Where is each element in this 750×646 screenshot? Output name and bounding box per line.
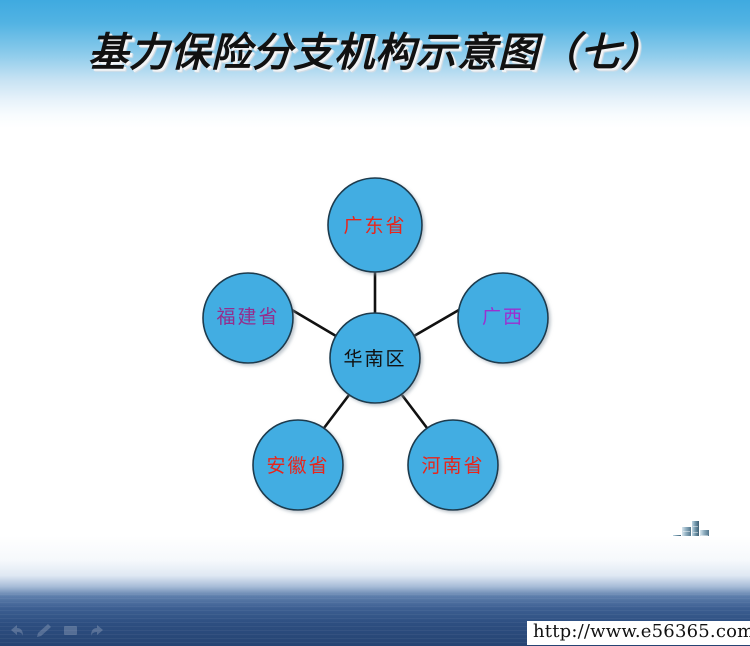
branch-guangdong[interactable]: 广东省 xyxy=(328,178,422,272)
branch-anhui[interactable]: 安徽省 xyxy=(253,420,343,510)
arrow-right-icon[interactable] xyxy=(89,623,106,638)
connector-center-to-fujian xyxy=(287,307,336,336)
slideshow-nav-controls[interactable] xyxy=(8,623,106,638)
watermark-url: http://www.e56365.com xyxy=(527,621,750,645)
branch-guangxi-label: 广西 xyxy=(482,306,524,328)
branch-fujian-label: 福建省 xyxy=(216,306,279,328)
center-node-label: 华南区 xyxy=(343,348,406,370)
branch-fujian[interactable]: 福建省 xyxy=(203,273,293,363)
branch-henan-label: 河南省 xyxy=(421,455,484,477)
center-node[interactable]: 华南区 xyxy=(330,313,420,403)
connector-center-to-henan xyxy=(402,395,427,428)
pen-icon[interactable] xyxy=(35,623,52,638)
branch-henan[interactable]: 河南省 xyxy=(408,420,498,510)
connector-center-to-anhui xyxy=(324,395,349,428)
branch-anhui-label: 安徽省 xyxy=(266,455,329,477)
presentation-slide: 基力保险分支机构示意图（七） 广东省 xyxy=(0,0,750,646)
branch-guangxi[interactable]: 广西 xyxy=(458,273,548,363)
slide-menu-icon[interactable] xyxy=(62,623,79,638)
connector-center-to-guangxi xyxy=(414,307,464,336)
arrow-left-icon[interactable] xyxy=(8,623,25,638)
branch-guangdong-label: 广东省 xyxy=(343,215,406,237)
